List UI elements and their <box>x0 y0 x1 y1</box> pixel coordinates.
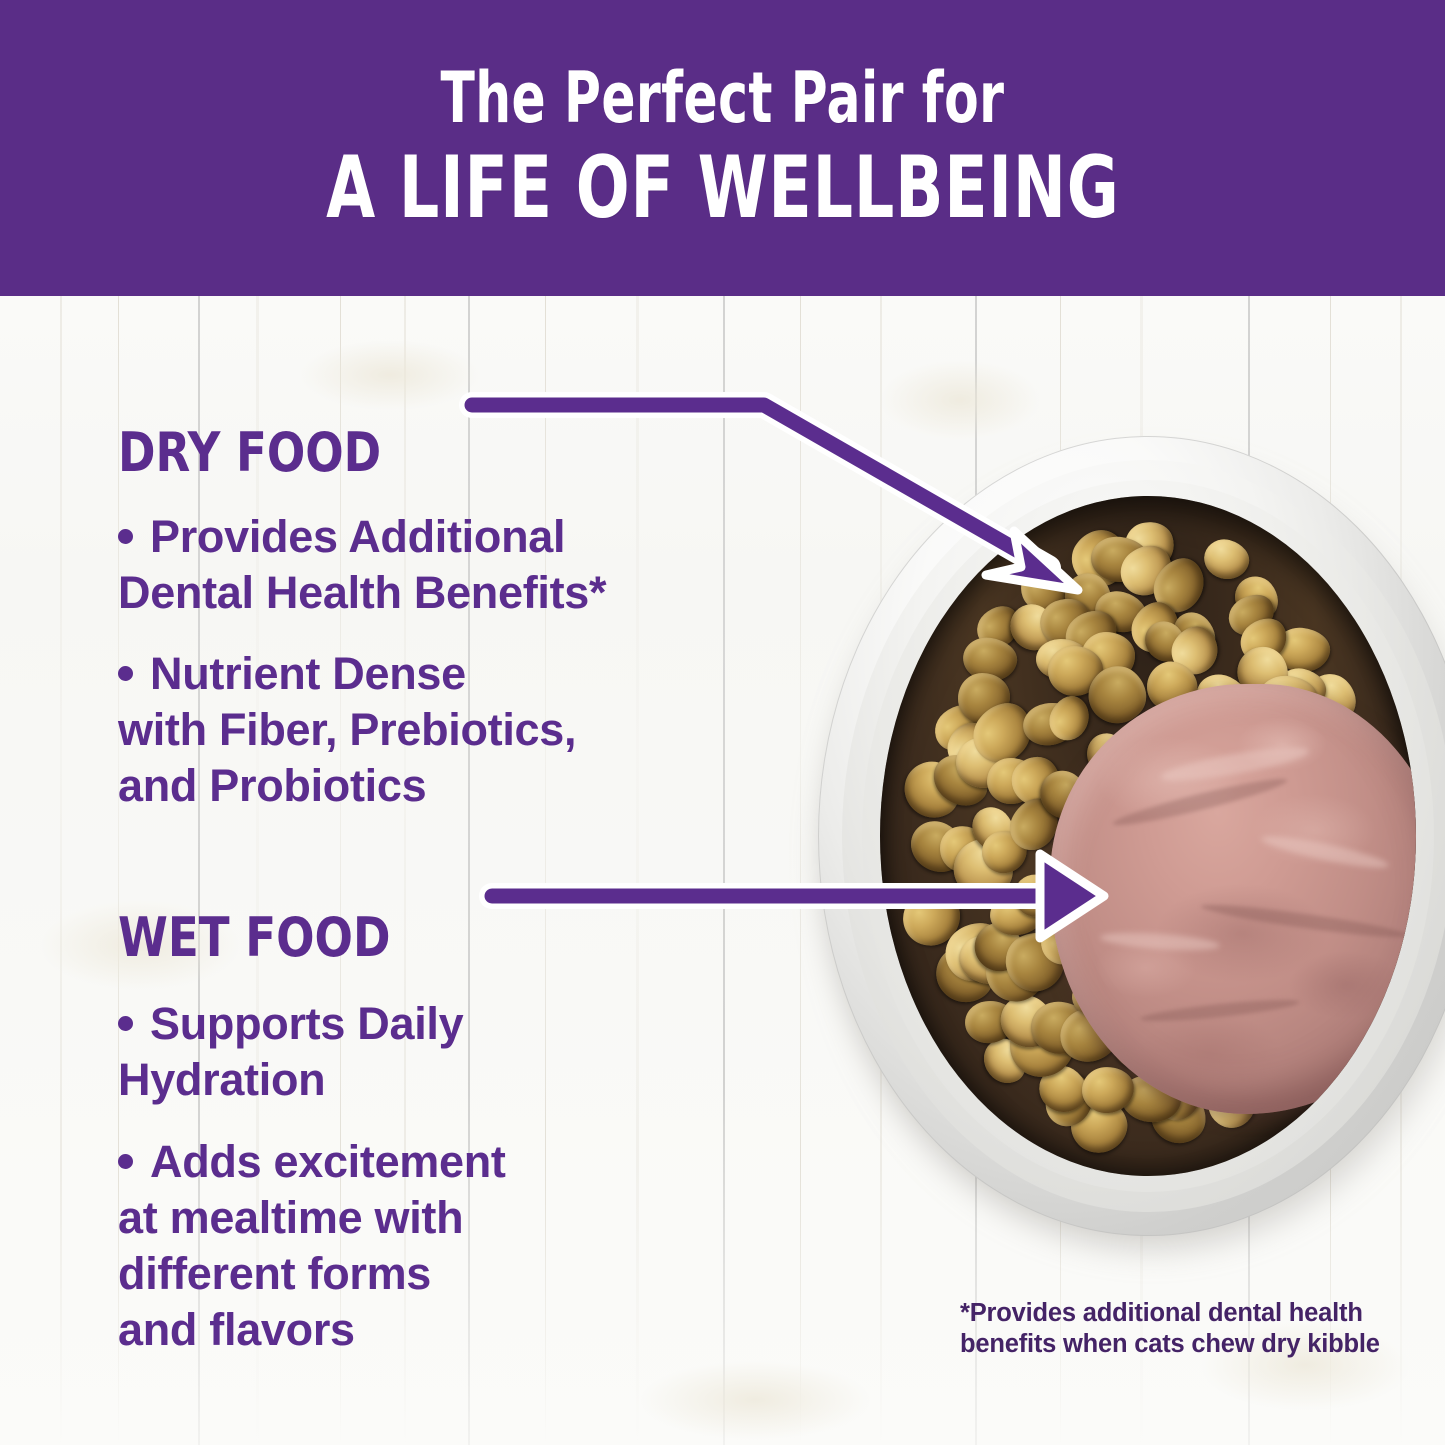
food-bowl-photo <box>818 436 1445 1256</box>
bullet-dot <box>118 666 133 681</box>
bullet-dot <box>118 1154 133 1169</box>
footnote-text: *Provides additional dental health benef… <box>960 1298 1390 1360</box>
section-heading-dry-food: DRY FOOD <box>118 421 381 484</box>
bullet-text: Nutrient Dense with Fiber, Prebiotics, a… <box>118 648 576 811</box>
banner-title-line2: A LIFE OF WELLBEING <box>326 143 1120 233</box>
section-heading-wet-food: WET FOOD <box>118 906 390 969</box>
bullet-dot <box>118 529 133 544</box>
header-banner: The Perfect Pair for A LIFE OF WELLBEING <box>0 0 1445 296</box>
bullet-text: Provides Additional Dental Health Benefi… <box>118 511 606 618</box>
bullet-item: Supports Daily Hydration <box>118 996 808 1108</box>
bullet-dot <box>118 1016 133 1031</box>
infographic-root: The Perfect Pair for A LIFE OF WELLBEING… <box>0 0 1445 1445</box>
bullet-item: Provides Additional Dental Health Benefi… <box>118 509 808 621</box>
copy-column: DRY FOOD Provides Additional Dental Heal… <box>0 296 840 1445</box>
wood-blotch <box>880 360 1040 440</box>
banner-title-line1: The Perfect Pair for <box>441 63 1005 134</box>
bullet-text: Supports Daily Hydration <box>118 998 463 1105</box>
bullet-text: Adds excitement at mealtime with differe… <box>118 1136 506 1355</box>
bowl-interior <box>880 496 1416 1176</box>
pate-texture <box>1050 684 1416 1114</box>
wet-food-pate <box>1050 684 1416 1114</box>
bullet-item: Nutrient Dense with Fiber, Prebiotics, a… <box>118 646 808 814</box>
kibble-piece <box>1199 534 1253 584</box>
bullet-item: Adds excitement at mealtime with differe… <box>118 1134 808 1358</box>
